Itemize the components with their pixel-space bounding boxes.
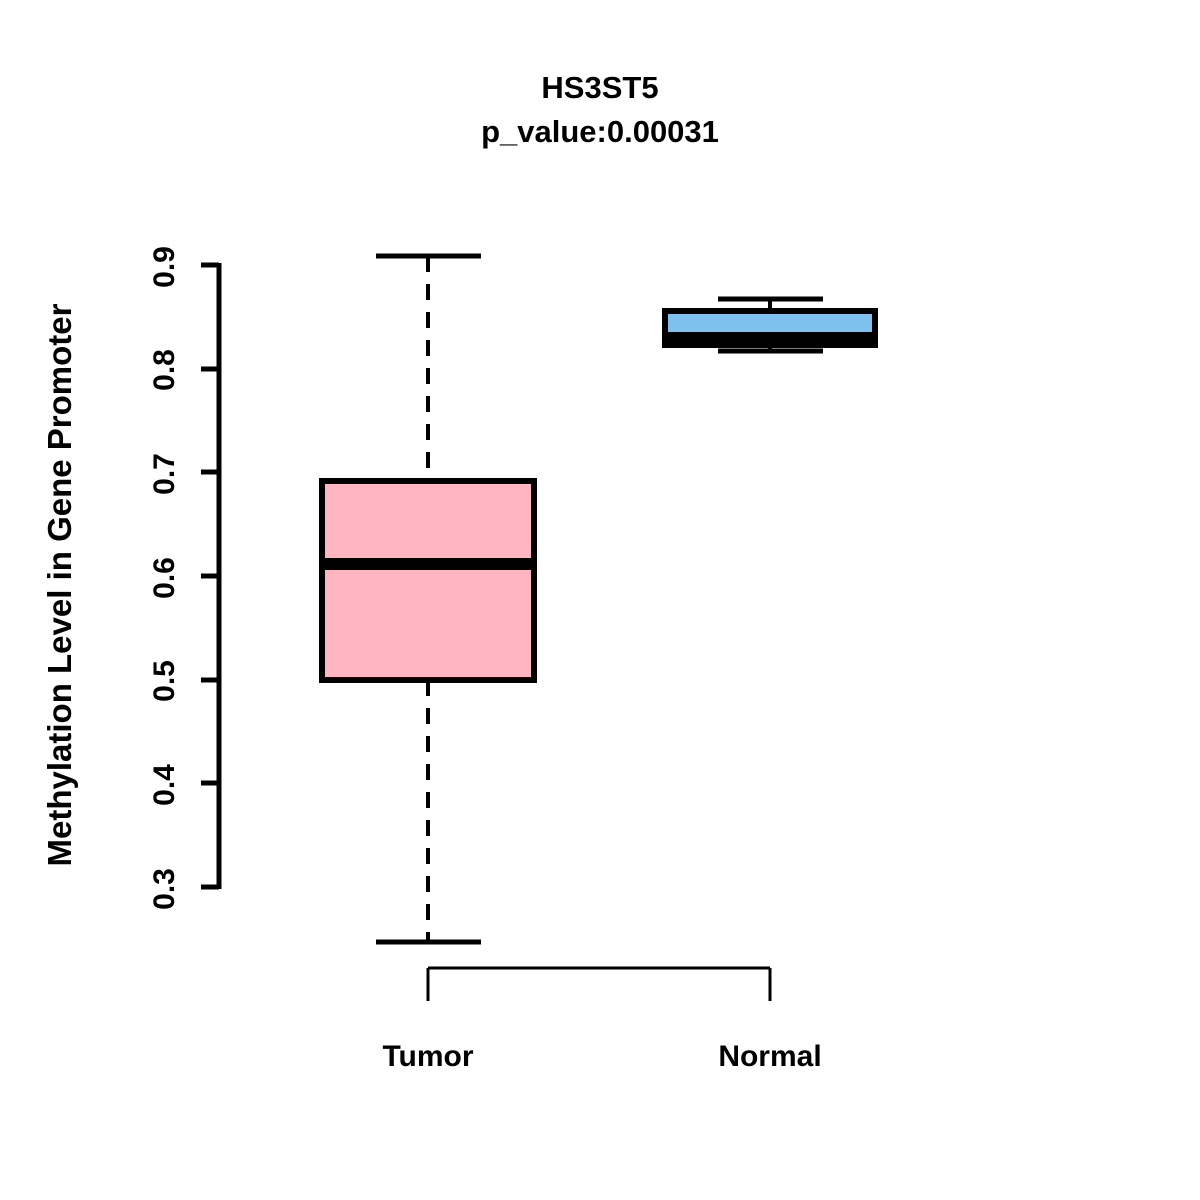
x-axis-bracket [428, 968, 770, 1001]
box-tumor [322, 256, 534, 942]
tumor-box [322, 481, 534, 680]
boxplot-figure: HS3ST5 p_value:0.00031 Methylation Level… [0, 0, 1200, 1200]
box-normal [665, 299, 875, 351]
plot-canvas [0, 0, 1200, 1200]
y-axis [201, 263, 219, 889]
